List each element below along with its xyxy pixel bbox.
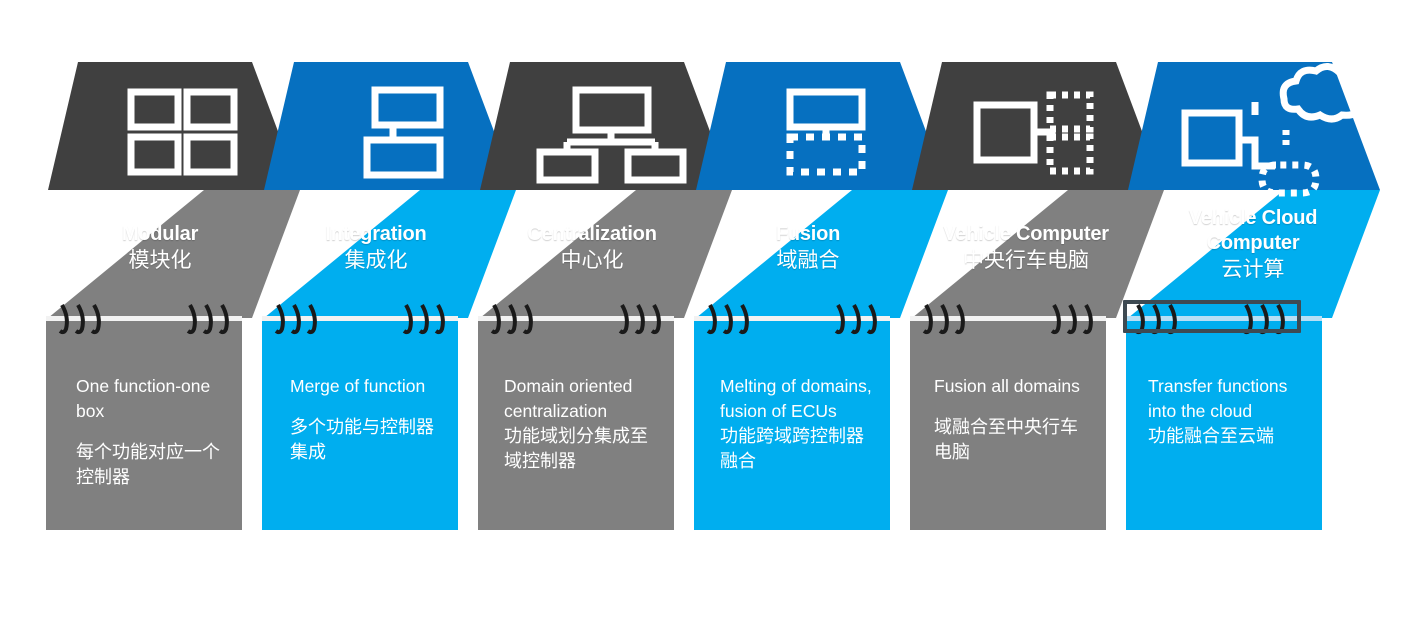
- stage-3-body-cn: 功能域划分集成至域控制器: [504, 424, 656, 474]
- diagram-canvas: Modular 模块化 One function-one box 每个功能对应一…: [0, 0, 1417, 618]
- stage-1-body-cn: 每个功能对应一个控制器: [76, 440, 226, 490]
- stage-5-chevron-head[interactable]: [912, 62, 1164, 190]
- stage-3-body-en: Domain oriented centralization: [504, 374, 656, 424]
- stage-2-body-en: Merge of function: [290, 374, 440, 399]
- stage-4-body-cn: 功能跨域跨控制器融合: [720, 424, 880, 474]
- stage-1-body: One function-one box 每个功能对应一个控制器: [76, 374, 226, 490]
- stage-6-selection-box[interactable]: [1123, 300, 1301, 333]
- stage-6-group[interactable]: [1126, 62, 1380, 530]
- stage-4-body-en: Melting of domains, fusion of ECUs: [720, 374, 880, 424]
- stage-5-body: Fusion all domains 域融合至中央行车电脑: [934, 374, 1084, 465]
- stage-1-body-en: One function-one box: [76, 374, 226, 424]
- stage-2-body: Merge of function 多个功能与控制器集成: [290, 374, 440, 465]
- stage-3-body: Domain oriented centralization 功能域划分集成至域…: [504, 374, 656, 474]
- stage-5-body-en: Fusion all domains: [934, 374, 1084, 399]
- stage-6-body: Transfer functions into the cloud 功能融合至云…: [1148, 374, 1288, 449]
- stage-2-body-cn: 多个功能与控制器集成: [290, 415, 440, 465]
- stage-3-chevron-head[interactable]: [480, 62, 732, 190]
- stage-1-chevron-lower[interactable]: [48, 190, 300, 318]
- stage-6-body-en: Transfer functions into the cloud: [1148, 374, 1288, 424]
- stage-6-chevron-head[interactable]: [1128, 62, 1380, 190]
- stage-5-body-cn: 域融合至中央行车电脑: [934, 415, 1084, 465]
- stage-6-chevron-lower[interactable]: [1128, 190, 1380, 318]
- stage-3-chevron-lower[interactable]: [480, 190, 732, 318]
- stage-5-chevron-lower[interactable]: [912, 190, 1164, 318]
- stage-4-body: Melting of domains, fusion of ECUs 功能跨域跨…: [720, 374, 880, 474]
- stage-2-chevron-lower[interactable]: [264, 190, 516, 318]
- stage-4-chevron-lower[interactable]: [696, 190, 948, 318]
- stage-6-body-cn: 功能融合至云端: [1148, 424, 1288, 449]
